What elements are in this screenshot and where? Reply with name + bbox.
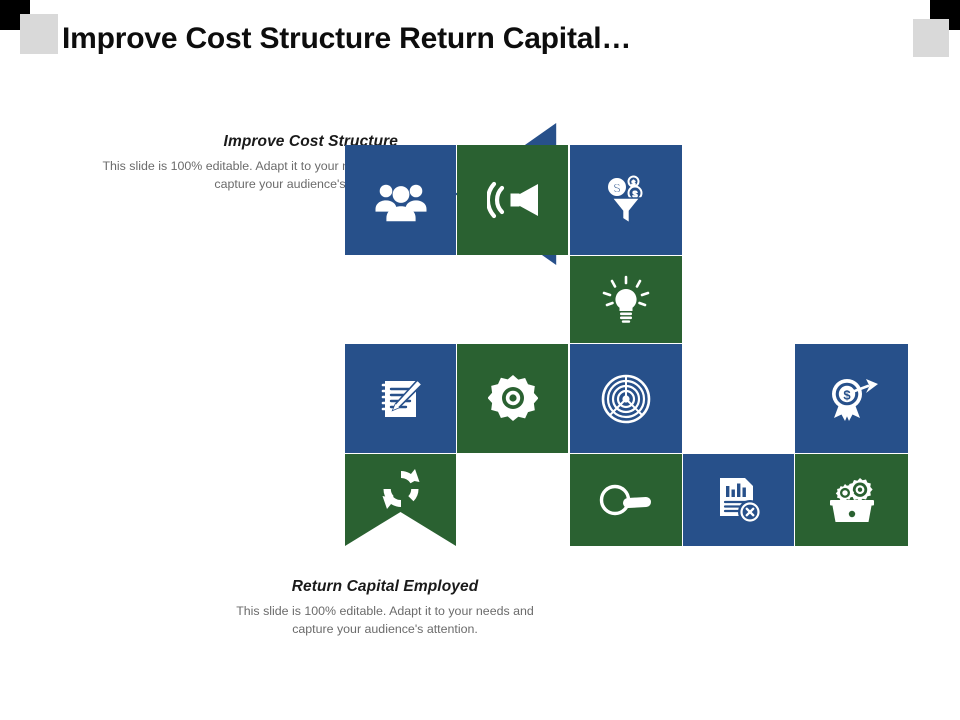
gears-basket-icon [826, 475, 878, 525]
tile-lightbulb-idea[interactable] [570, 256, 682, 343]
tile-gears-basket[interactable] [795, 454, 908, 546]
megaphone-icon [487, 178, 539, 222]
tile-target-radar[interactable] [570, 344, 682, 453]
notepad-pencil-icon [376, 374, 426, 424]
money-funnel-icon: $ $ $ [602, 174, 650, 226]
target-radar-icon [601, 374, 651, 424]
tile-magnifier[interactable] [570, 454, 682, 546]
tile-money-funnel[interactable]: $ $ $ [570, 145, 682, 255]
page-title: Improve Cost Structure Return Capital… [62, 22, 631, 56]
people-group-icon [374, 178, 428, 222]
report-error-icon [714, 475, 764, 525]
svg-text:$: $ [843, 387, 851, 402]
corner-gray-square-top-left [20, 14, 58, 54]
body-return-capital-employed: This slide is 100% editable. Adapt it to… [215, 603, 555, 638]
lightbulb-idea-icon [601, 275, 651, 325]
tile-money-target-arrow[interactable]: $ [795, 344, 908, 453]
slide-canvas: Improve Cost Structure Return Capital… I… [0, 0, 960, 720]
corner-gray-square-top-right [913, 19, 949, 57]
money-target-arrow-icon: $ [824, 374, 880, 424]
text-block-return-capital-employed: Return Capital Employed This slide is 10… [215, 578, 555, 638]
heading-return-capital-employed: Return Capital Employed [215, 578, 555, 596]
svg-text:$: $ [613, 181, 621, 196]
tile-people-group[interactable] [345, 145, 456, 255]
tile-megaphone[interactable] [457, 145, 568, 255]
gear-settings-icon [488, 374, 538, 424]
tile-notepad-pencil[interactable] [345, 344, 456, 453]
refresh-cycle-icon [379, 467, 423, 511]
tile-gear-settings[interactable] [457, 344, 568, 453]
tile-report-error[interactable] [683, 454, 794, 546]
tile-refresh-cycle[interactable] [345, 454, 456, 546]
magnifier-icon [598, 480, 654, 520]
